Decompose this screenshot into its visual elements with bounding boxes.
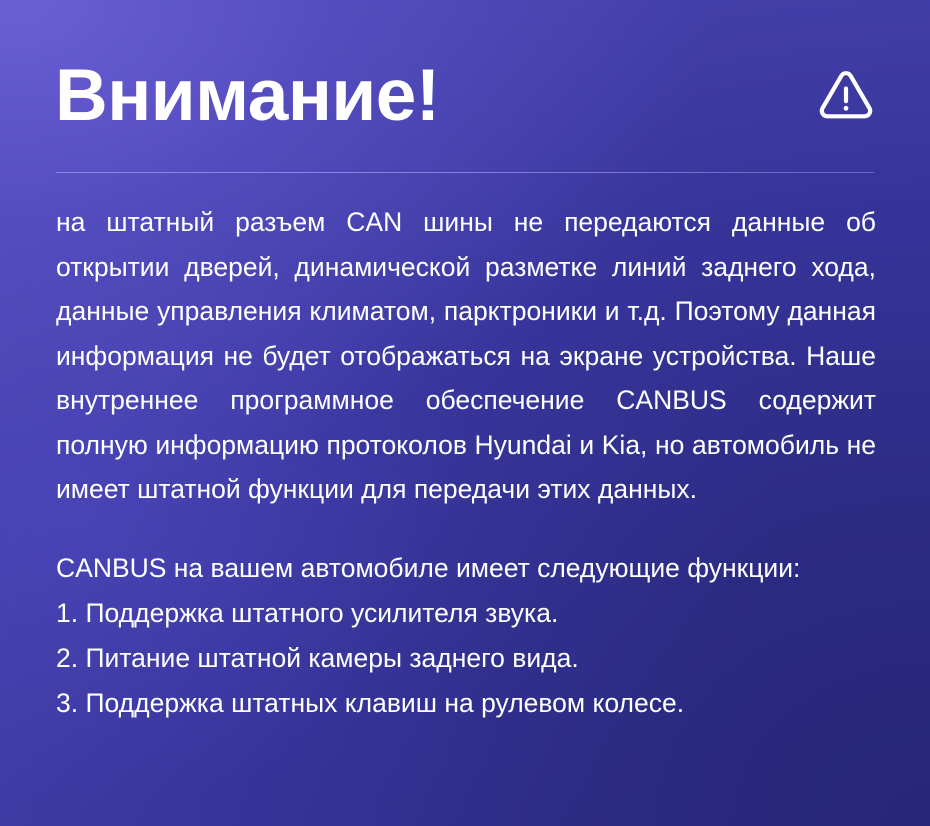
feature-item-3: 3. Поддержка штатных клавиш на рулевом к… [56, 681, 876, 726]
feature-item-1: 1. Поддержка штатного усилителя звука. [56, 591, 876, 636]
features-intro: CANBUS на вашем автомобиле имеет следующ… [56, 546, 876, 591]
page-title: Внимание! [55, 52, 440, 140]
warning-triangle-icon [817, 68, 875, 120]
header-divider [56, 172, 874, 173]
features-block: CANBUS на вашем автомобиле имеет следующ… [56, 546, 876, 726]
poster-content: на штатный разъем CAN шины не передаются… [56, 200, 876, 726]
warning-poster: Внимание! на штатный разъем CAN шины не … [0, 0, 930, 826]
feature-item-2: 2. Питание штатной камеры заднего вида. [56, 636, 876, 681]
main-paragraph: на штатный разъем CAN шины не передаются… [56, 200, 876, 512]
poster-header: Внимание! [55, 52, 875, 140]
